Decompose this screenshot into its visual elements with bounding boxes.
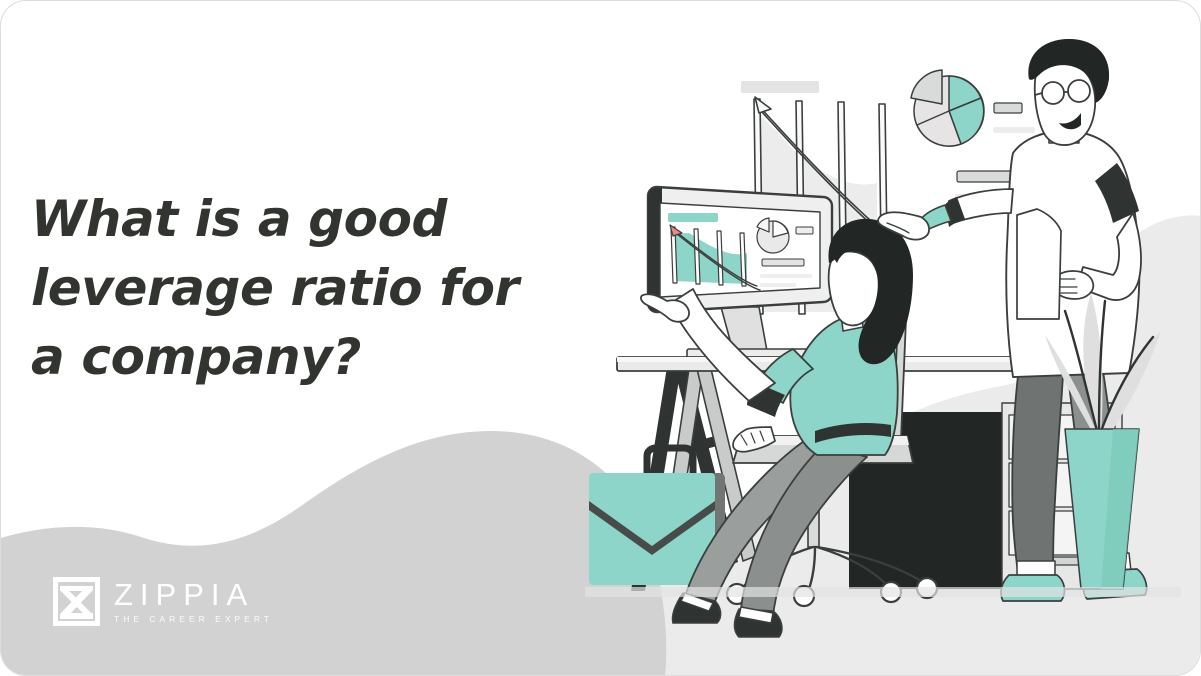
zippia-logo[interactable]: ZIPPIA THE CAREER EXPERT	[53, 577, 273, 626]
desktop-monitor	[648, 187, 832, 360]
hero-illustration	[561, 31, 1201, 676]
floor-shadow	[585, 587, 1181, 597]
zippia-wordmark-block: ZIPPIA THE CAREER EXPERT	[114, 579, 273, 625]
zippia-z-square-icon	[53, 577, 100, 626]
zippia-wordmark: ZIPPIA	[114, 579, 273, 610]
info-card: What is a good leverage ratio for a comp…	[0, 0, 1201, 676]
zippia-tagline: THE CAREER EXPERT	[114, 615, 273, 624]
page-title: What is a good leverage ratio for a comp…	[31, 185, 551, 392]
